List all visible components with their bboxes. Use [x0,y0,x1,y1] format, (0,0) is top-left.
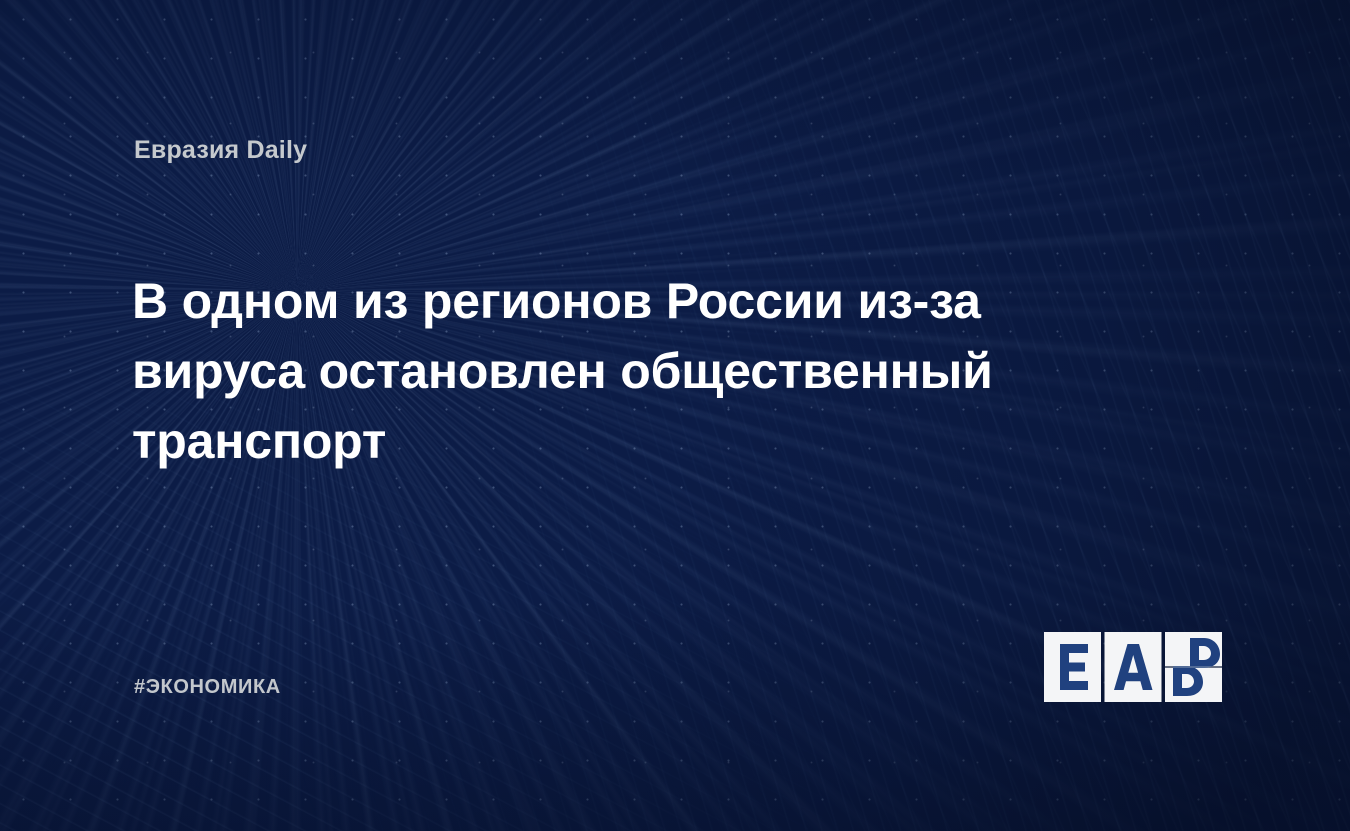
logo-tile-a [1105,632,1162,702]
article-headline: В одном из регионов России из-за вируса … [132,266,1092,476]
news-share-card: Евразия Daily В одном из регионов России… [0,0,1350,831]
eadaily-logo-icon [1044,632,1222,702]
card-content: Евразия Daily В одном из регионов России… [0,0,1350,831]
rubric-hashtag: #ЭКОНОМИКА [134,676,281,699]
logo-tile-d [1165,632,1222,702]
logo-tile-e [1044,632,1101,702]
site-name: Евразия Daily [134,136,307,165]
eadaily-logo [1044,632,1222,702]
